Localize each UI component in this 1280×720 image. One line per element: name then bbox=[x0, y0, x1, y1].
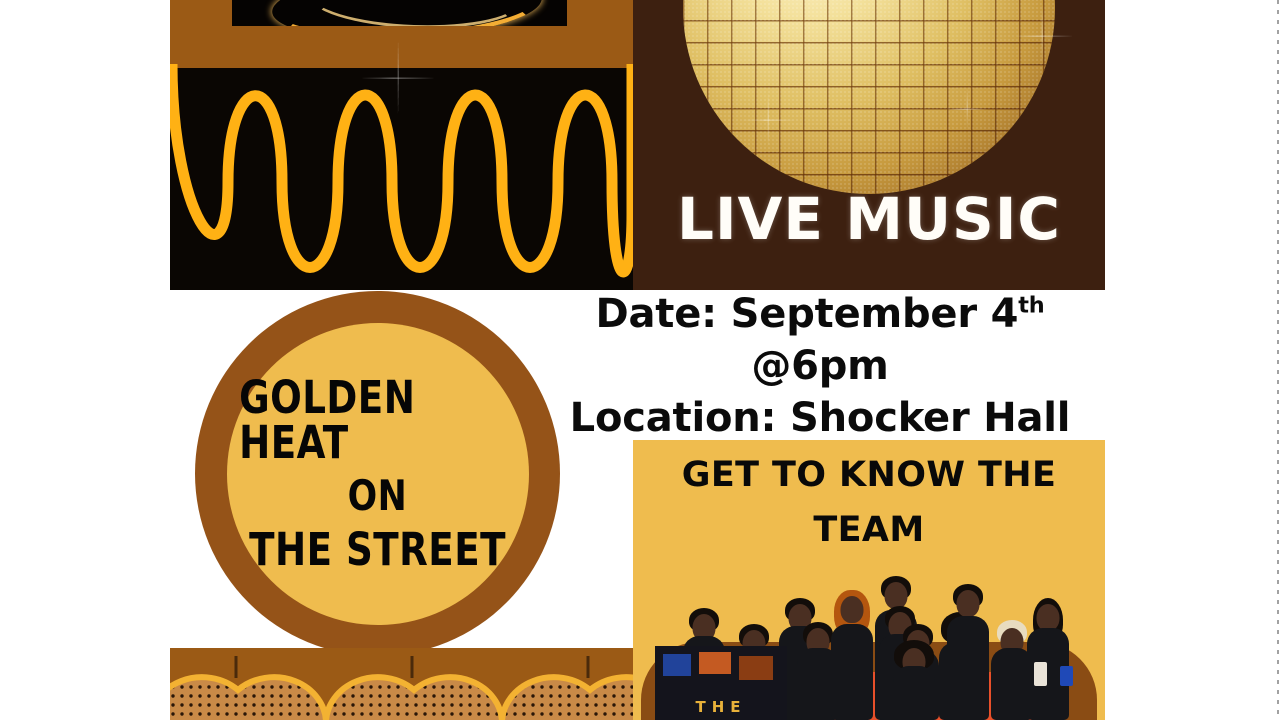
badge-line-3: THE STREET bbox=[249, 527, 506, 572]
team-heading-line-1: GET TO KNOW THE bbox=[633, 448, 1105, 503]
team-member bbox=[891, 640, 937, 720]
team-poster-board: THE bbox=[655, 646, 787, 720]
event-date-suffix: @6pm bbox=[751, 343, 888, 389]
member-head bbox=[957, 590, 980, 617]
team-heading: GET TO KNOW THE TEAM bbox=[633, 448, 1105, 558]
disco-ball-icon bbox=[683, 0, 1055, 194]
event-date-line: Date: September 4th @6pm bbox=[520, 288, 1120, 392]
poster-word: THE bbox=[655, 698, 787, 716]
live-music-heading: LIVE MUSIC bbox=[633, 190, 1105, 248]
disco-ball-grain bbox=[683, 0, 1055, 194]
member-body bbox=[893, 666, 935, 720]
team-heading-line-2: TEAM bbox=[633, 503, 1105, 558]
arch-pattern-graphic bbox=[170, 648, 633, 720]
bottle-icon bbox=[1060, 666, 1073, 686]
poster-photo bbox=[663, 654, 691, 676]
member-body bbox=[947, 616, 989, 720]
team-member bbox=[945, 584, 991, 720]
member-head bbox=[885, 582, 908, 609]
poster-photo bbox=[739, 656, 773, 680]
team-member bbox=[1025, 598, 1071, 720]
arch-pattern-icon bbox=[170, 648, 633, 720]
golden-swirl-inset bbox=[232, 0, 567, 26]
sine-wave-icon bbox=[170, 64, 633, 290]
event-location-line-1: Location: Shocker Hall bbox=[520, 392, 1120, 444]
badge-line-1: GOLDEN HEAT bbox=[239, 375, 517, 465]
event-date-ordinal: th bbox=[1018, 293, 1044, 319]
team-panel: GET TO KNOW THE TEAM bbox=[633, 440, 1105, 720]
team-photo: THE bbox=[633, 558, 1105, 720]
golden-heat-badge: GOLDEN HEAT ON THE STREET bbox=[195, 291, 560, 656]
golden-wave-graphic bbox=[170, 0, 633, 290]
poster-photo bbox=[699, 652, 731, 674]
member-body bbox=[831, 624, 873, 720]
cup-icon bbox=[1034, 662, 1047, 686]
event-date-prefix: Date: September 4 bbox=[596, 291, 1019, 337]
member-head bbox=[841, 596, 864, 623]
badge-line-2: ON bbox=[348, 475, 408, 517]
member-head bbox=[1037, 604, 1060, 631]
badge-inner-circle: GOLDEN HEAT ON THE STREET bbox=[227, 323, 529, 625]
page-edge-guide bbox=[1277, 0, 1279, 720]
flyer-canvas: LIVE MUSIC Date: September 4th @6pm Loca… bbox=[0, 0, 1280, 720]
team-member bbox=[829, 590, 875, 720]
